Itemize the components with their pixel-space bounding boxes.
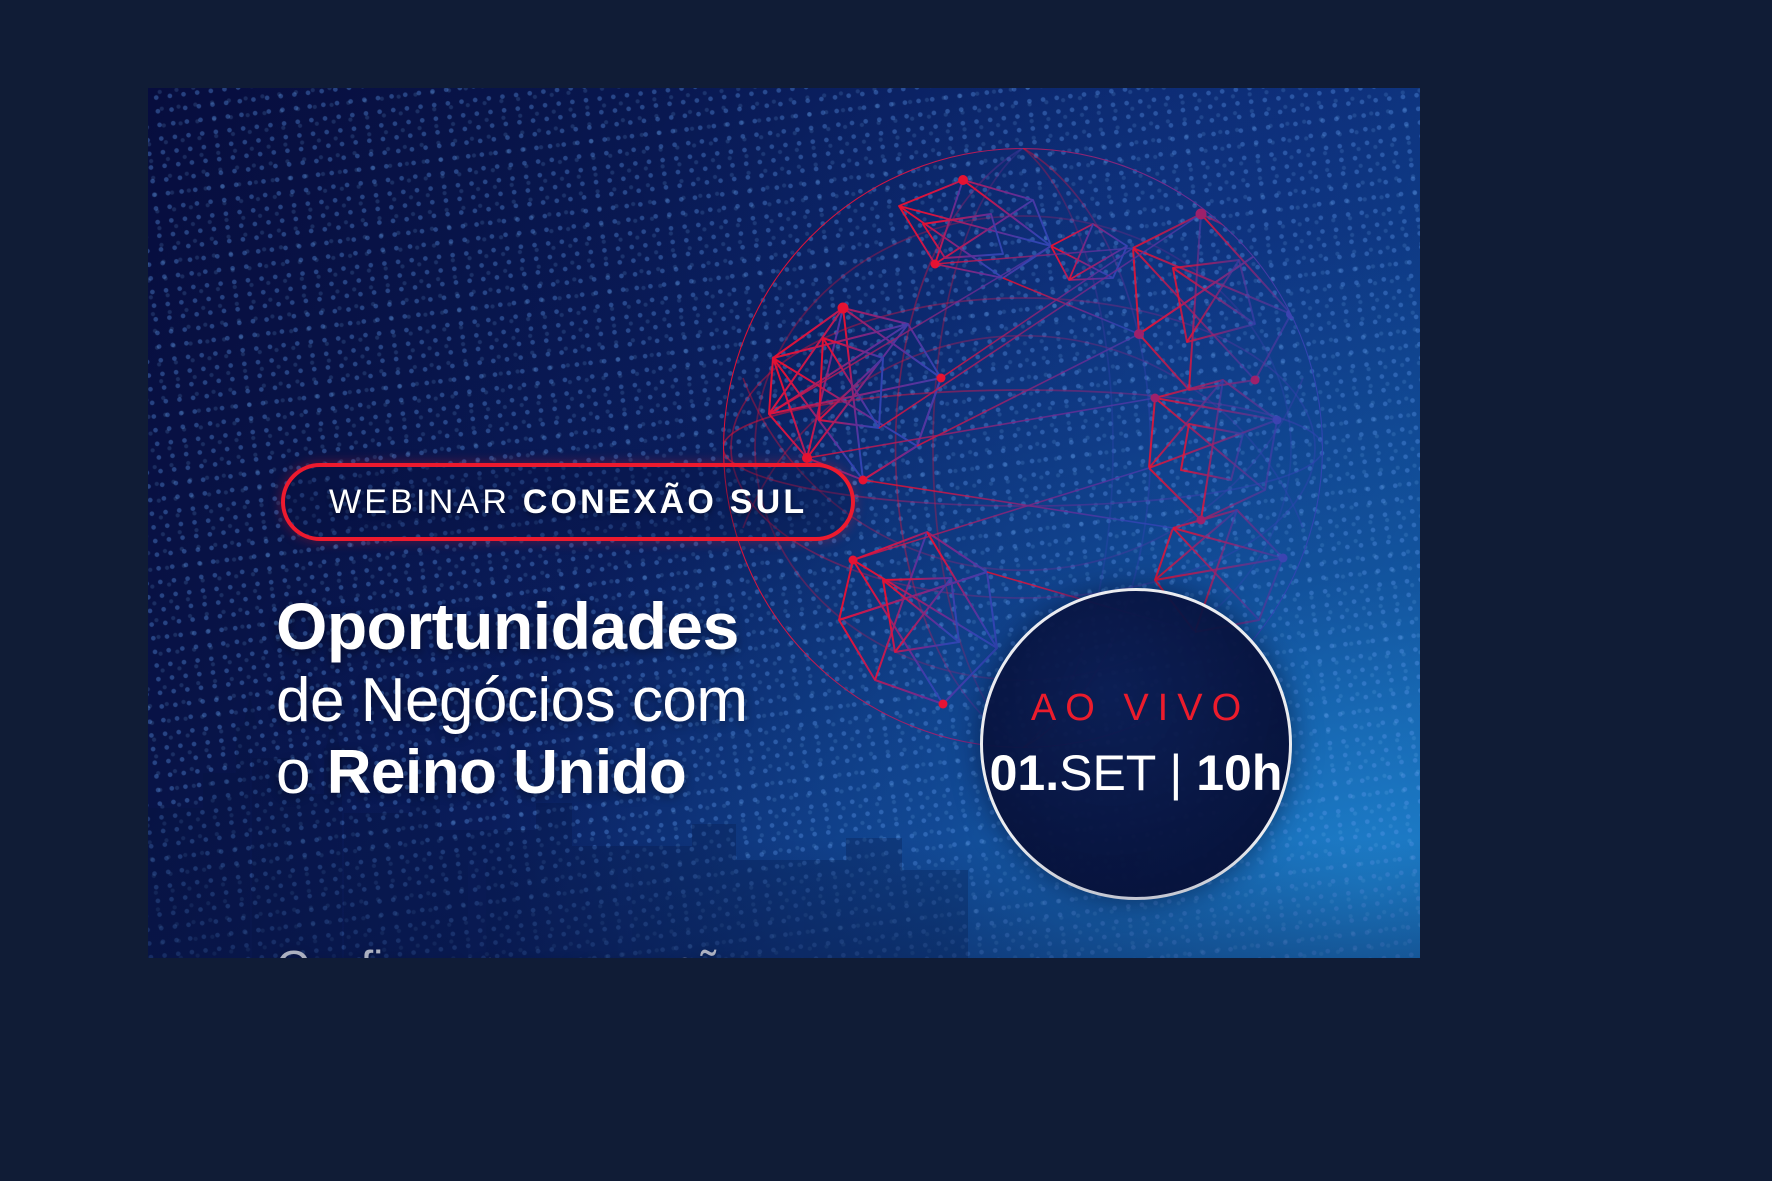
pill-space: [510, 483, 523, 521]
page-root: WEBINAR CONEXÃO SUL Oportunidades de Neg…: [0, 0, 1772, 1181]
pill-badge-text: WEBINAR CONEXÃO SUL: [329, 483, 807, 522]
pill-brand-label: CONEXÃO SUL: [523, 483, 808, 521]
headline-line-3-emphasis: Reino Unido: [327, 738, 687, 807]
live-separator: |: [1155, 745, 1196, 801]
headline-line-3: o Reino Unido: [276, 739, 748, 807]
subline-text: Confira a programação: [276, 940, 746, 958]
headline-block: Oportunidades de Negócios com o Reino Un…: [276, 590, 748, 807]
headline-line-1: Oportunidades: [276, 590, 748, 663]
live-label: AO VIVO: [1022, 687, 1250, 730]
headline-line-3-prefix: o: [276, 738, 327, 807]
webinar-pill-badge: WEBINAR CONEXÃO SUL: [281, 463, 855, 541]
live-date-time: 01.SET | 10h: [990, 744, 1283, 802]
live-date-month: SET: [1059, 745, 1155, 801]
live-date-day: 01.: [990, 745, 1060, 801]
webinar-banner: WEBINAR CONEXÃO SUL Oportunidades de Neg…: [148, 88, 1420, 958]
live-time: 10h: [1196, 745, 1282, 801]
pill-prefix-label: WEBINAR: [329, 483, 510, 521]
headline-line-2: de Negócios com: [276, 667, 748, 735]
live-badge: AO VIVO 01.SET | 10h: [980, 588, 1292, 900]
